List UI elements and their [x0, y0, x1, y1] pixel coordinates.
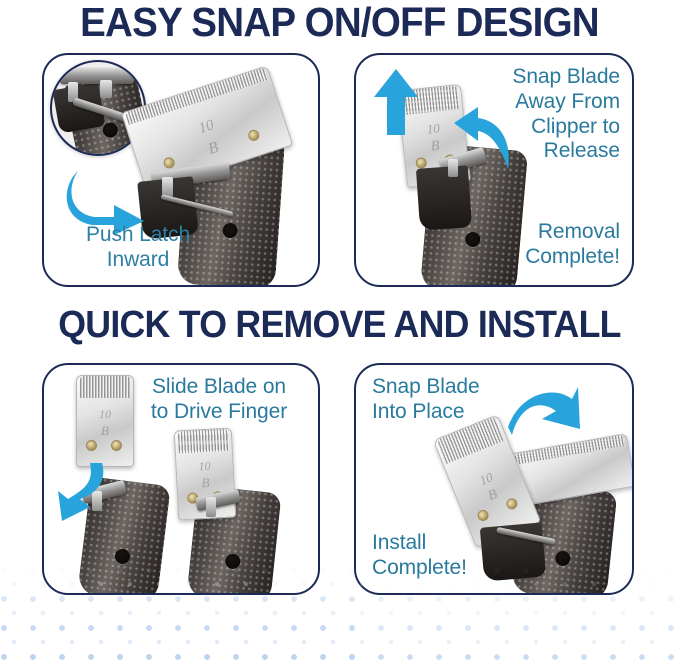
blade-teeth: [178, 429, 229, 454]
blade-model-mark: 10: [452, 460, 520, 498]
caption-snap-away: Snap Blade Away From Clipper to Release: [452, 65, 620, 164]
straight-arrow-up-icon: [374, 69, 418, 135]
blade-teeth: [80, 376, 130, 398]
latch-hook-inset-2: [100, 80, 112, 98]
product-infographic: EASY SNAP ON/OFF DESIGN 10 B: [0, 0, 679, 662]
caption-push-latch: Push Latch Inward: [58, 223, 218, 273]
blade-screw-right: [247, 128, 261, 142]
caption-slide-blade: Slide Blade on to Drive Finger: [130, 375, 308, 425]
panel-push-latch: 10 B Push Latch Inward: [42, 53, 320, 287]
page-title-secondary: QUICK TO REMOVE AND INSTALL: [20, 306, 658, 344]
blade-teeth: [125, 67, 268, 124]
panel-snap-away: 10 B Snap Blade Away From Clipper to Rel…: [354, 53, 634, 287]
page-title-primary: EASY SNAP ON/OFF DESIGN: [20, 2, 658, 43]
blade-model-mark: 10: [77, 408, 133, 420]
blade-screw-left: [86, 440, 97, 451]
caption-removal-complete: Removal Complete!: [452, 220, 620, 270]
panel-snap-into-place: 10 B Snap Blade Into Place Install Compl…: [354, 363, 634, 595]
panel-slide-blade: 10 B 10 B Slide Blade on to Drive Finger: [42, 363, 320, 595]
caption-snap-into-place: Snap Blade Into Place: [372, 375, 532, 425]
blade-screw-right: [111, 440, 122, 451]
curved-arrow-down-icon: [50, 461, 110, 525]
blade-screw-left: [162, 156, 176, 170]
blade-brand-mark: B: [177, 475, 234, 491]
blade-model-mark: 10: [176, 459, 233, 474]
blade-screw-right: [505, 497, 519, 511]
clipper-blade-left: 10 B: [76, 375, 134, 467]
blade-screw-left: [476, 508, 490, 522]
blade-brand-mark: B: [459, 477, 527, 515]
latch-hook-right: [206, 497, 216, 517]
blade-brand-mark: B: [77, 424, 133, 437]
caption-install-complete: Install Complete!: [372, 531, 532, 581]
